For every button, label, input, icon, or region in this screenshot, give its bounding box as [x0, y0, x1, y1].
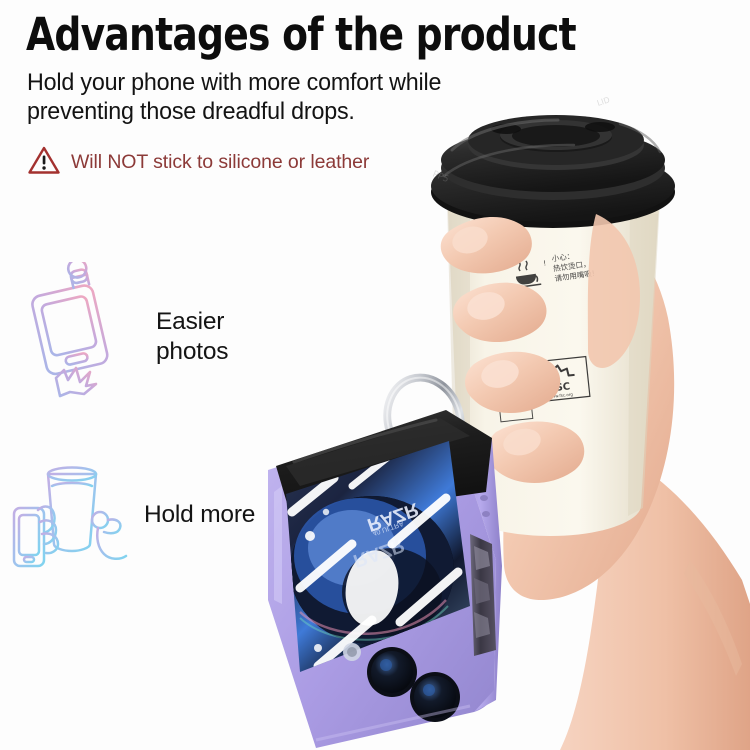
svg-text:LID: LID — [596, 95, 611, 108]
coffee-cup: ! 小心： 热饮烫口， 请勿用嘴吸! Hot Lid FSC www.fsc.o… — [447, 160, 660, 536]
svg-text:PP5: PP5 — [431, 170, 450, 185]
fingers — [441, 214, 640, 483]
hand-back — [503, 198, 674, 600]
fsc-certification-mark: FSC www.fsc.org — [534, 357, 590, 402]
power-button — [482, 511, 490, 517]
svg-text:RAZR: RAZR — [350, 534, 407, 571]
warning-text: Will NOT stick to silicone or leather — [71, 151, 369, 174]
feature-hold-more: Hold more — [8, 452, 255, 577]
phone-with-ring-grip-icon — [22, 262, 134, 412]
svg-text:热饮烫口，: 热饮烫口， — [552, 258, 591, 273]
warning-notice: Will NOT stick to silicone or leather — [28, 146, 369, 179]
product-advantages-banner: ! 小心： 热饮烫口， 请勿用嘴吸! Hot Lid FSC www.fsc.o… — [0, 0, 750, 750]
razr-branding: RAZR — [364, 498, 421, 535]
feature-easier-photos: Easier photos — [22, 262, 228, 412]
svg-text:!: ! — [543, 259, 547, 267]
volume-button — [480, 495, 488, 501]
metal-finger-ring-holder — [376, 368, 471, 488]
camera-lens-primary — [371, 651, 413, 693]
flash-sensor — [343, 643, 361, 661]
finger-ring — [465, 352, 560, 413]
svg-text:40 ULTRA: 40 ULTRA — [371, 519, 404, 536]
motorola-razr-flip-phone: RAZR 40 ULTRA RAZR — [268, 410, 502, 748]
finger-pinky — [487, 422, 584, 484]
warning-triangle-icon — [28, 146, 60, 179]
svg-text:请勿用嘴吸!: 请勿用嘴吸! — [554, 268, 596, 284]
folding-hinge — [470, 534, 496, 656]
thumb — [588, 214, 640, 368]
phone-case — [268, 412, 496, 748]
feature-label: Hold more — [144, 500, 255, 530]
feature-label: Easier photos — [156, 307, 228, 367]
svg-text:Hot Lid: Hot Lid — [494, 298, 510, 328]
side-print-label: Hot Lid — [494, 298, 510, 328]
svg-text:FSC: FSC — [548, 381, 570, 394]
forearm — [560, 452, 750, 750]
finger-middle — [453, 283, 547, 342]
svg-text:小心：: 小心： — [551, 251, 575, 263]
phone-top-panel — [276, 410, 492, 520]
page-subtitle: Hold your phone with more comfort while … — [27, 68, 531, 126]
camera-module — [343, 643, 460, 722]
page-title: Advantages of the product — [26, 8, 576, 61]
hand-holding-cup-and-phone-icon — [8, 452, 138, 577]
cover-display: RAZR 40 ULTRA RAZR — [270, 420, 490, 690]
recycle-mark: ♲ — [497, 381, 533, 422]
hot-beverage-warning-label: ! 小心： 热饮烫口， 请勿用嘴吸! — [512, 249, 596, 289]
side-buttons — [480, 495, 490, 517]
phone-case-right-edge — [448, 412, 502, 712]
camera-lens-secondary — [414, 676, 456, 718]
svg-text:♲: ♲ — [504, 395, 517, 411]
finger-index — [441, 217, 532, 273]
svg-text:www.fsc.org: www.fsc.org — [548, 392, 573, 400]
ring-base-plate — [398, 436, 452, 488]
